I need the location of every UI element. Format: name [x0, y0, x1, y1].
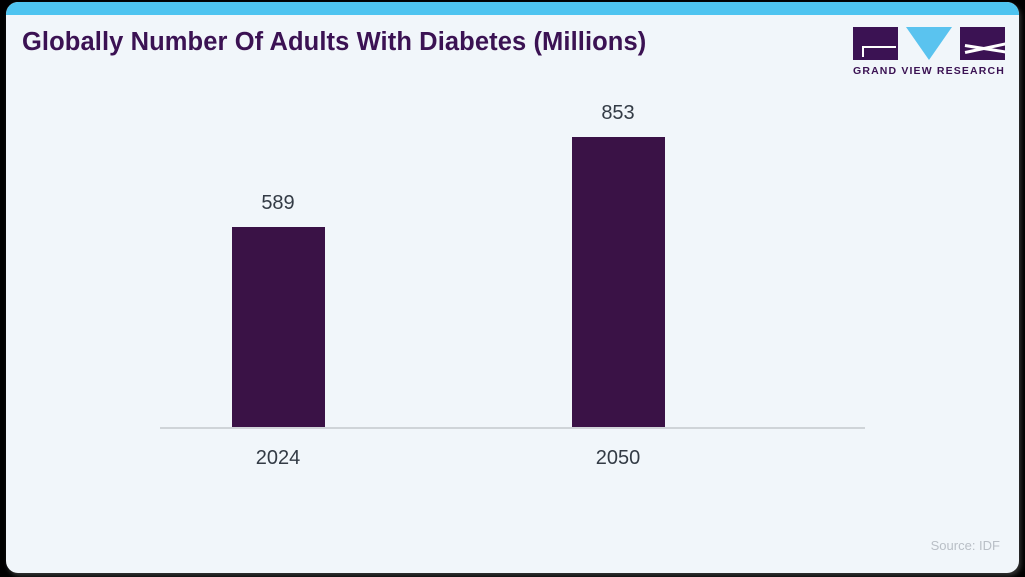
x-axis-tick-labels: 2024 2050	[160, 447, 865, 475]
logo-marks	[853, 27, 1005, 60]
source-note: Source: IDF	[931, 538, 1000, 553]
gvr-g-block-icon	[853, 27, 898, 60]
page-title: Globally Number Of Adults With Diabetes …	[22, 28, 646, 57]
bar-chart: 589 853 2024 2050	[6, 87, 1019, 517]
bar-value-label-2024: 589	[160, 192, 396, 215]
bar-2024[interactable]	[232, 227, 325, 427]
bar-value-label-2050: 853	[500, 102, 736, 125]
gvr-g-notch-icon	[862, 46, 896, 57]
x-tick-label-2024: 2024	[160, 447, 396, 470]
bar-group-2024: 589	[160, 87, 396, 427]
brand-logo: GRAND VIEW RESEARCH	[853, 27, 1005, 85]
bar-group-2050: 853	[500, 87, 736, 427]
gvr-r-chevron-icon	[965, 43, 1005, 55]
chart-card: Globally Number Of Adults With Diabetes …	[6, 2, 1019, 573]
gvr-r-block-icon	[960, 27, 1005, 60]
triangle-shape	[906, 27, 952, 60]
x-axis-line	[160, 427, 865, 429]
logo-wordmark: GRAND VIEW RESEARCH	[853, 65, 1005, 77]
top-accent-bar	[6, 2, 1019, 15]
bar-2050[interactable]	[572, 137, 665, 427]
screenshot-root: Globally Number Of Adults With Diabetes …	[0, 0, 1025, 577]
x-tick-label-2050: 2050	[500, 447, 736, 470]
gvr-blue-triangle-icon	[906, 27, 952, 60]
chart-header: Globally Number Of Adults With Diabetes …	[6, 15, 1019, 87]
bar-series: 589 853	[160, 87, 865, 427]
